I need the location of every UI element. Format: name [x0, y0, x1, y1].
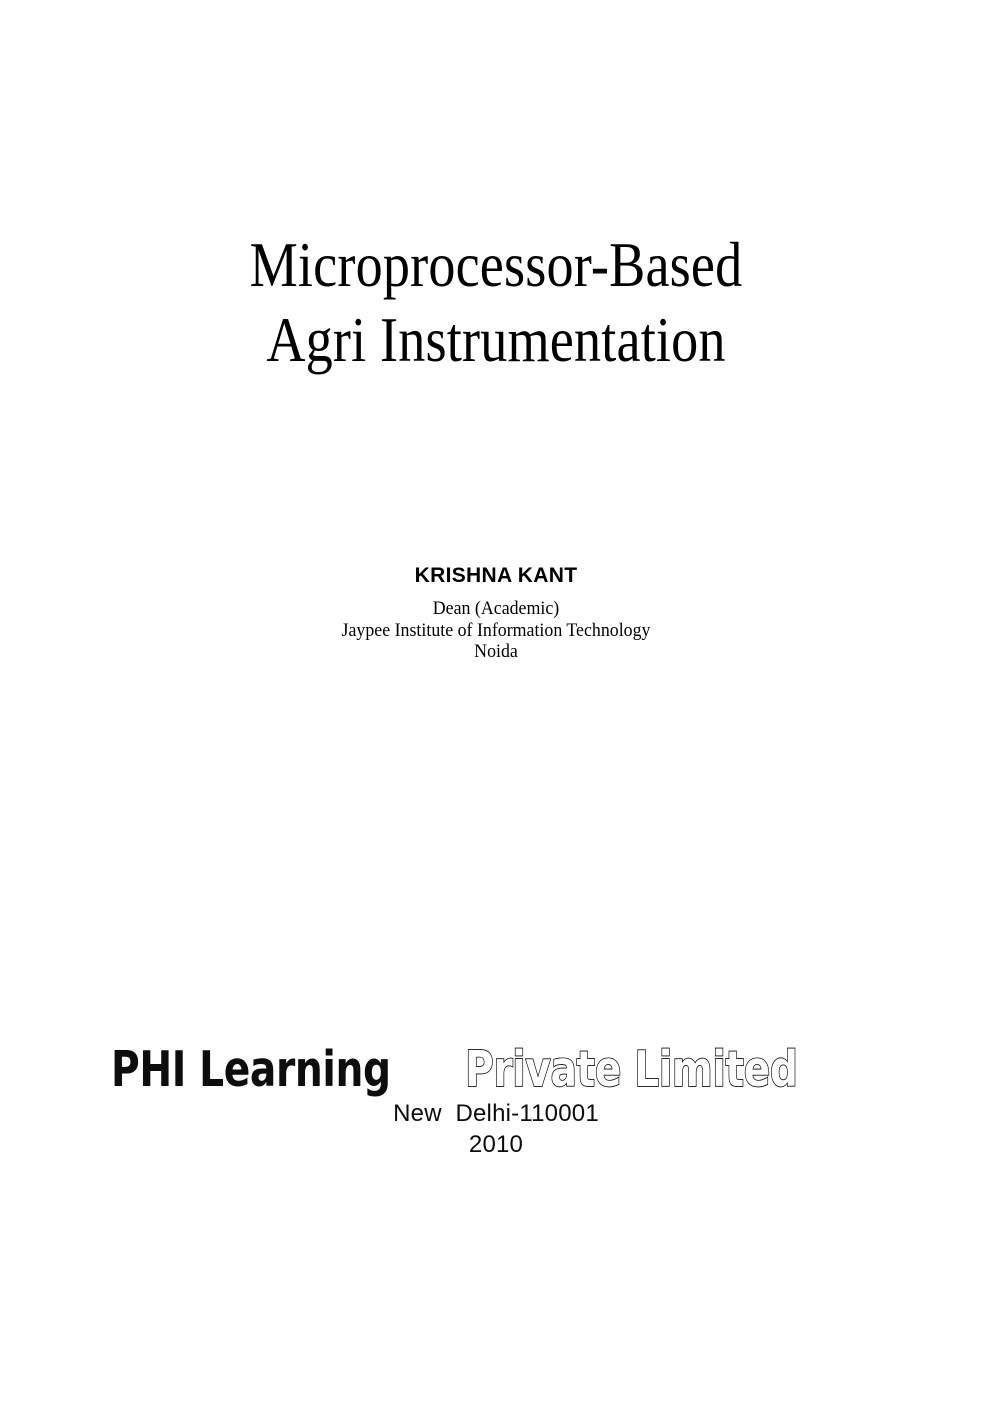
- publisher-address: New Delhi-110001: [0, 1098, 992, 1129]
- title-page: Microprocessor-Based Agri Instrumentatio…: [0, 0, 992, 1403]
- title-line-2: Agri Instrumentation: [69, 303, 922, 378]
- author-role: Dean (Academic): [30, 598, 962, 620]
- publisher-logo-phi-learning: PHI Learning: [111, 1042, 391, 1098]
- title-line-1: Microprocessor-Based: [69, 228, 922, 303]
- author-block: KRISHNA KANT: [0, 563, 992, 589]
- author-affiliation: Dean (Academic) Jaypee Institute of Info…: [0, 598, 992, 663]
- publication-year: 2010: [0, 1129, 992, 1160]
- book-title: Microprocessor-Based Agri Instrumentatio…: [0, 228, 992, 378]
- publisher-logo: PHI LearningPrivate Limited: [0, 1042, 992, 1098]
- author-location: Noida: [30, 641, 962, 663]
- publisher-block: PHI LearningPrivate Limited New Delhi-11…: [0, 1042, 992, 1160]
- author-name: KRISHNA KANT: [0, 563, 992, 589]
- publisher-logo-private-limited: Private Limited: [465, 1042, 798, 1098]
- author-institution: Jaypee Institute of Information Technolo…: [30, 620, 962, 642]
